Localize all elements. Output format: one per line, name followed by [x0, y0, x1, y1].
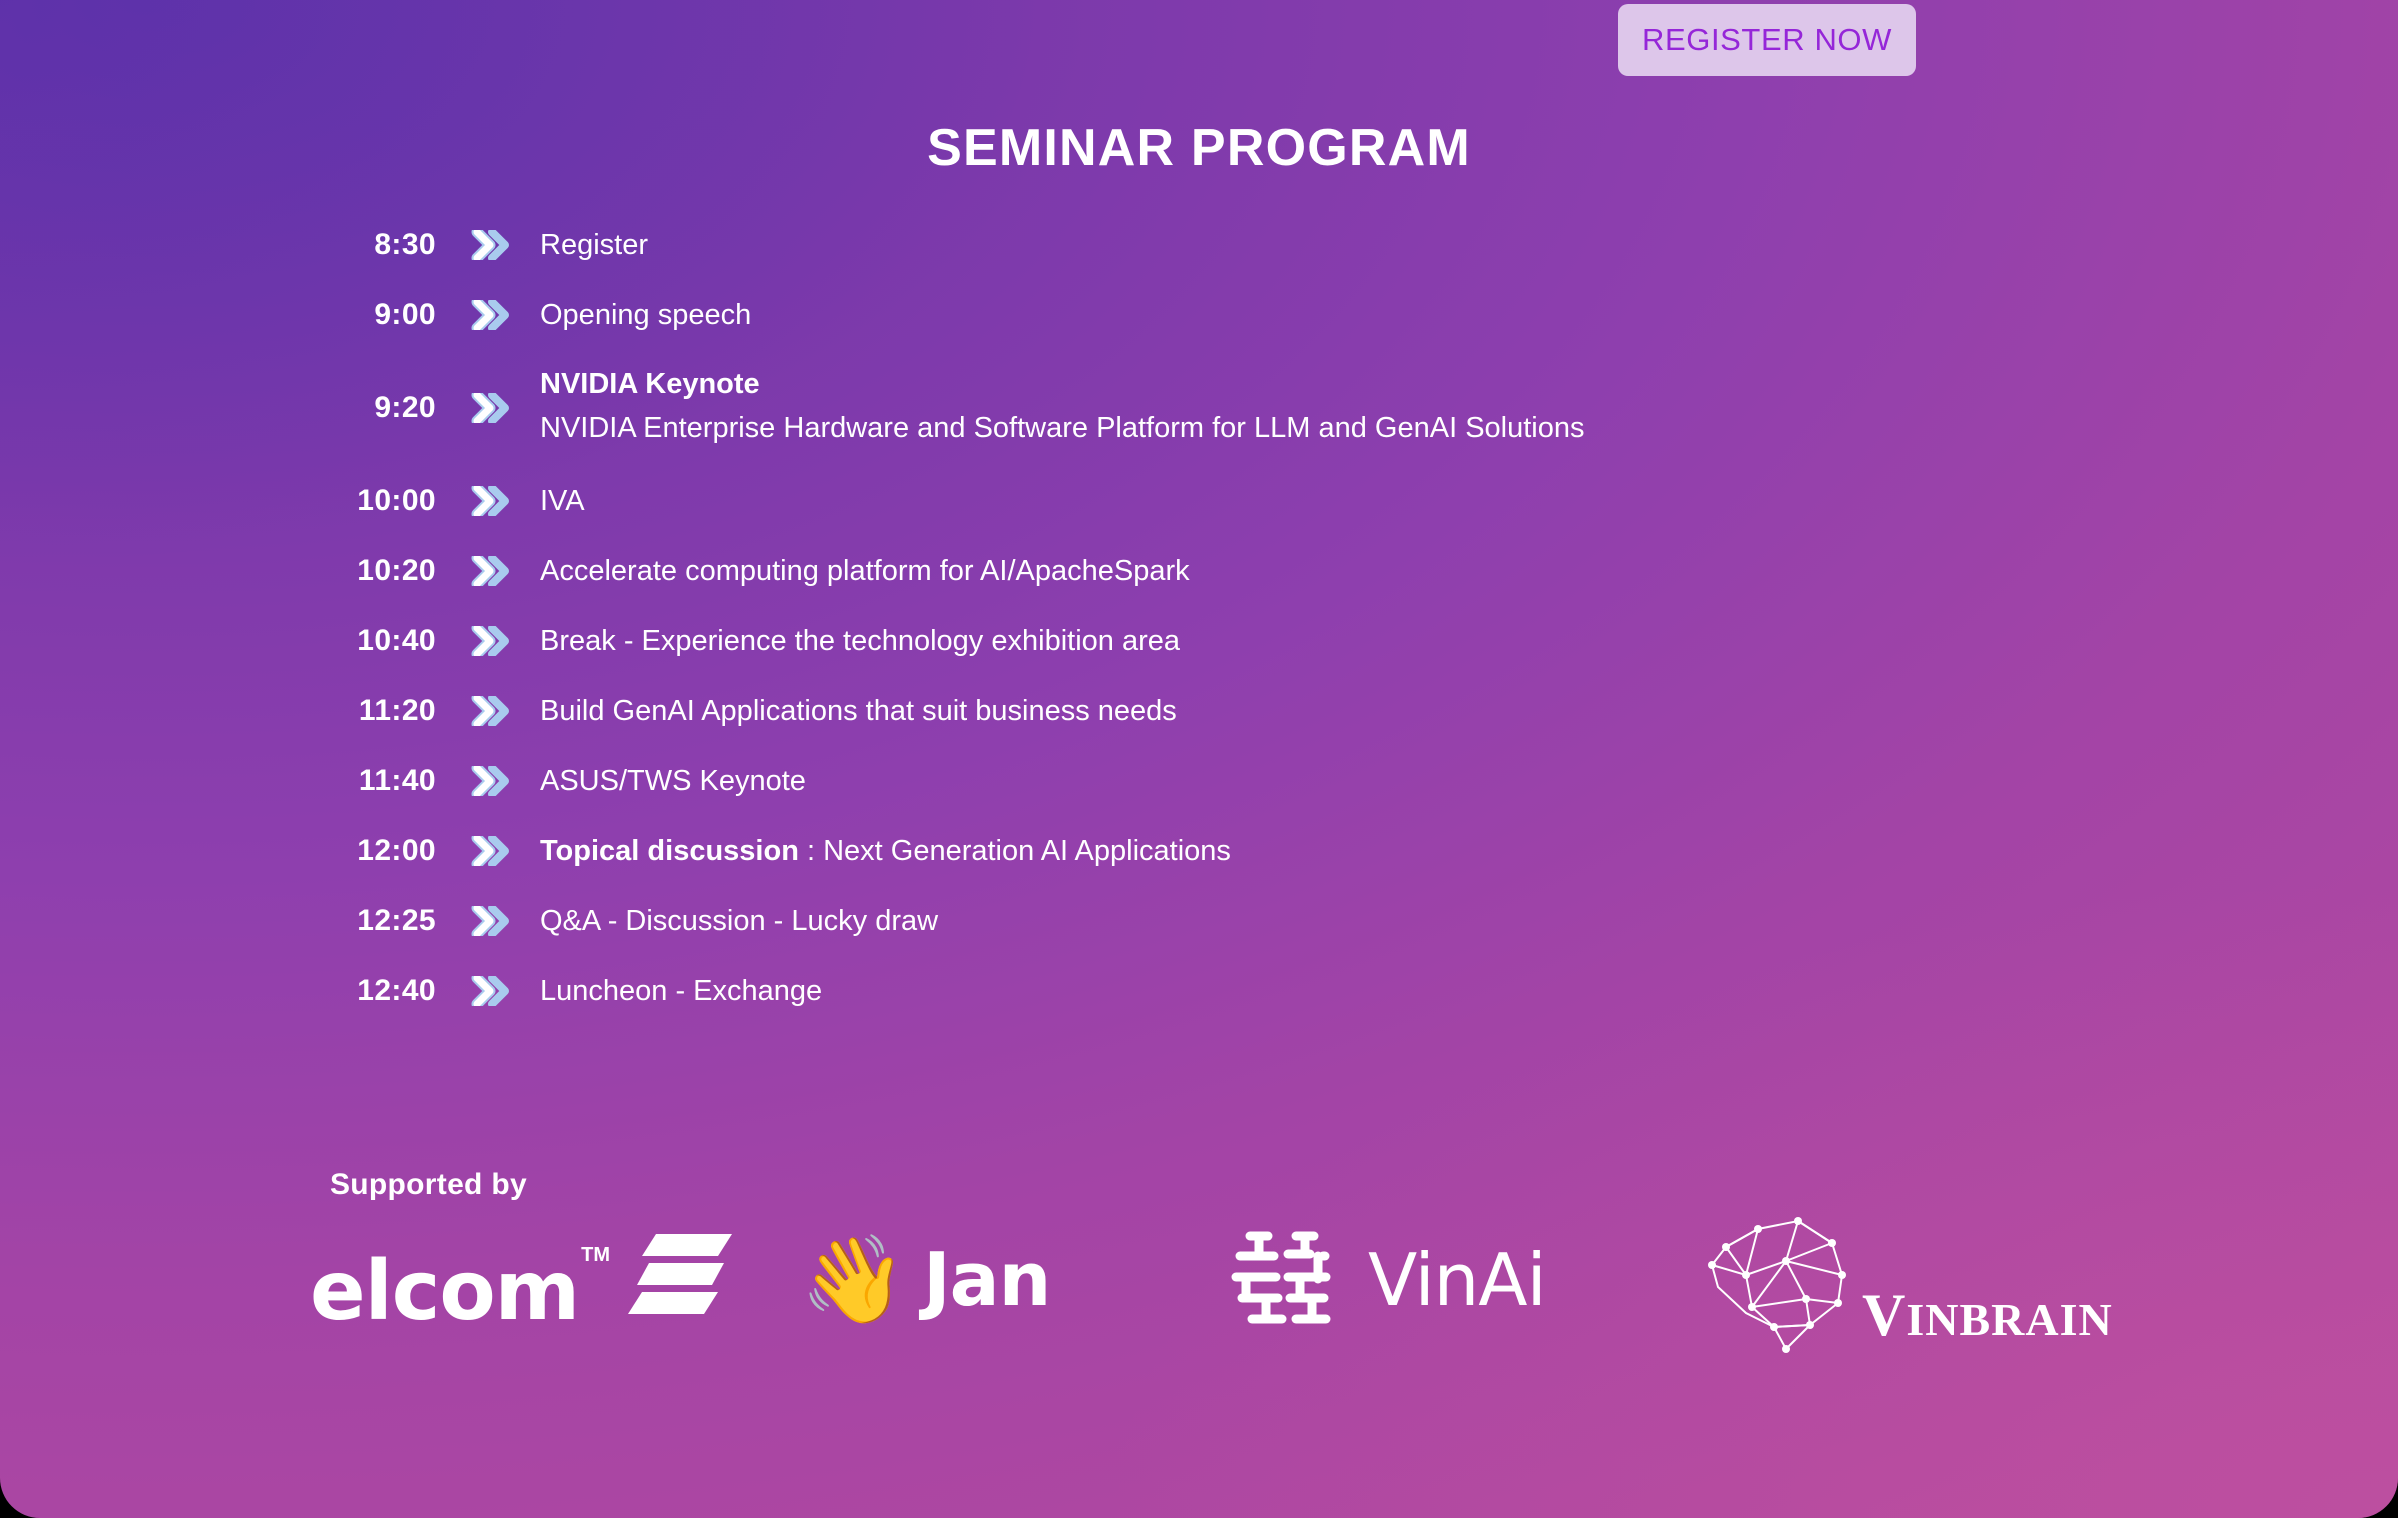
agenda-row: 9:00 Opening speech — [318, 292, 2018, 338]
double-chevron-icon — [460, 362, 524, 454]
agenda-text: Build GenAI Applications that suit busin… — [540, 688, 2018, 734]
agenda-text: Break - Experience the technology exhibi… — [540, 618, 2018, 664]
sponsor-logo-vinbrain: VINBRAIN — [1690, 1205, 2130, 1355]
vinbrain-wordmark: VINBRAIN — [1862, 1281, 2113, 1350]
vinai-network-mark-icon — [1230, 1224, 1350, 1337]
agenda-text: Register — [540, 222, 2018, 268]
vinbrain-rest: INBRAIN — [1906, 1294, 2112, 1345]
agenda-text: Accelerate computing platform for AI/Apa… — [540, 548, 2018, 594]
agenda-time: 10:00 — [318, 478, 436, 524]
agenda-time: 11:40 — [318, 758, 436, 804]
agenda-row: 12:00 Topical discussion : Next Generati… — [318, 828, 2018, 874]
brain-network-icon — [1690, 1203, 1880, 1358]
agenda-text-rest: : Next Generation AI Applications — [799, 835, 1231, 867]
sponsor-logo-vinai: VinAi — [1230, 1205, 1690, 1355]
double-chevron-icon — [460, 758, 524, 804]
double-chevron-icon — [460, 292, 524, 338]
agenda-text: Topical discussion : Next Generation AI … — [540, 828, 2018, 874]
agenda-time: 12:00 — [318, 828, 436, 874]
supported-by-label: Supported by — [330, 1168, 527, 1202]
agenda-row: 8:30 Register — [318, 222, 2018, 268]
double-chevron-icon — [460, 688, 524, 734]
agenda-text-subtitle: NVIDIA Enterprise Hardware and Software … — [540, 406, 2018, 450]
agenda-row: 9:20 NVIDIA Keynote NVIDIA Enterprise Ha… — [318, 362, 2018, 454]
agenda-time: 9:00 — [318, 292, 436, 338]
agenda-time: 12:40 — [318, 968, 436, 1014]
waving-hand-icon: 👋 — [800, 1237, 907, 1323]
agenda-row: 12:40 Luncheon - Exchange — [318, 968, 2018, 1014]
elcom-e-mark-icon — [626, 1232, 734, 1323]
double-chevron-icon — [460, 828, 524, 874]
seminar-program-page: REGISTER NOW SEMINAR PROGRAM 8:30 Regist… — [0, 0, 2398, 1518]
sponsor-logo-elcom: elcom TM — [300, 1205, 800, 1355]
agenda-row: 12:25 Q&A - Discussion - Lucky draw — [318, 898, 2018, 944]
agenda-text: Luncheon - Exchange — [540, 968, 2018, 1014]
agenda-time: 12:25 — [318, 898, 436, 944]
agenda-text: ASUS/TWS Keynote — [540, 758, 2018, 804]
double-chevron-icon — [460, 478, 524, 524]
jan-wordmark: Jan — [923, 1237, 1050, 1323]
agenda-list: 8:30 Register 9:00 — [318, 222, 2018, 1038]
agenda-time: 9:20 — [318, 362, 436, 454]
agenda-row: 11:20 Build GenAI Applications that suit… — [318, 688, 2018, 734]
agenda-row: 10:40 Break - Experience the technology … — [318, 618, 2018, 664]
sponsor-logo-jan: 👋 Jan — [800, 1205, 1230, 1355]
agenda-text: NVIDIA Keynote NVIDIA Enterprise Hardwar… — [540, 362, 2018, 450]
agenda-text: Q&A - Discussion - Lucky draw — [540, 898, 2018, 944]
double-chevron-icon — [460, 898, 524, 944]
double-chevron-icon — [460, 618, 524, 664]
agenda-text-bold: Topical discussion — [540, 835, 799, 867]
vinai-wordmark: VinAi — [1368, 1238, 1546, 1322]
register-now-button[interactable]: REGISTER NOW — [1618, 4, 1916, 76]
double-chevron-icon — [460, 222, 524, 268]
page-title: SEMINAR PROGRAM — [0, 118, 2398, 178]
sponsor-logo-row: elcom TM 👋 Jan — [300, 1205, 2160, 1355]
double-chevron-icon — [460, 968, 524, 1014]
agenda-text: Opening speech — [540, 292, 2018, 338]
agenda-time: 8:30 — [318, 222, 436, 268]
agenda-row: 11:40 ASUS/TWS Keynote — [318, 758, 2018, 804]
agenda-row: 10:00 IVA — [318, 478, 2018, 524]
agenda-text: IVA — [540, 478, 2018, 524]
agenda-time: 10:40 — [318, 618, 436, 664]
agenda-time: 11:20 — [318, 688, 436, 734]
trademark-icon: TM — [581, 1244, 610, 1267]
agenda-text-headline: NVIDIA Keynote — [540, 362, 2018, 406]
vinbrain-initial: V — [1862, 1282, 1906, 1348]
agenda-time: 10:20 — [318, 548, 436, 594]
agenda-row: 10:20 Accelerate computing platform for … — [318, 548, 2018, 594]
double-chevron-icon — [460, 548, 524, 594]
elcom-wordmark: elcom — [310, 1255, 579, 1329]
